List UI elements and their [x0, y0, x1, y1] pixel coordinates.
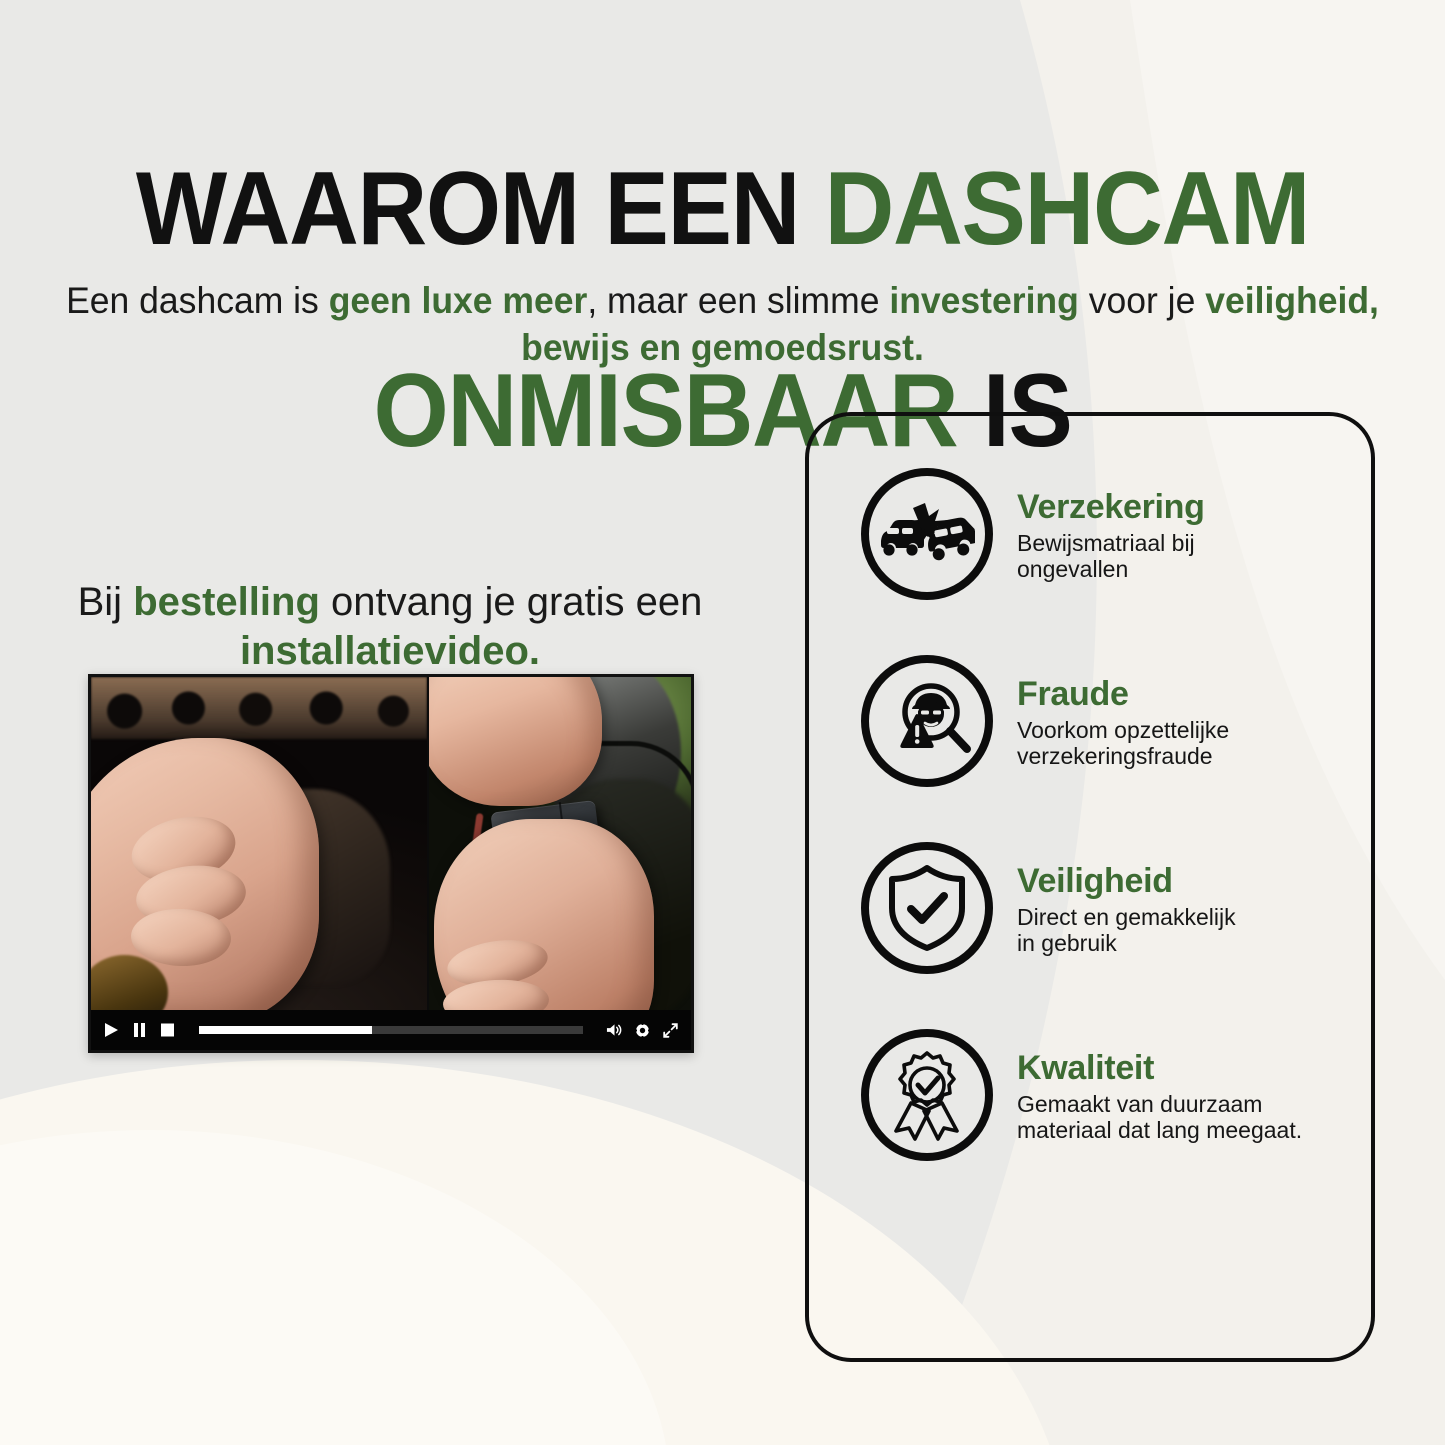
fraud-magnifier-icon: [861, 655, 993, 787]
thumb: [454, 677, 527, 680]
page-subtitle: Een dashcam is geen luxe meer, maar een …: [29, 277, 1416, 372]
hand-right-top: [427, 677, 602, 806]
play-button[interactable]: [103, 1022, 120, 1039]
progress-fill: [199, 1026, 372, 1034]
dashboard-vents: [91, 677, 427, 739]
title-line-1: WAAROM EEN DASHCAM: [136, 151, 1309, 267]
page-title: WAAROM EEN DASHCAM ONMISBAAR IS: [51, 58, 1395, 462]
feature-item-veiligheid[interactable]: Veiligheid Direct en gemakkelijk in gebr…: [861, 842, 1236, 974]
award-ribbon-icon: [861, 1029, 993, 1161]
video-pane-right: [427, 677, 691, 1016]
feature-text: Kwaliteit Gemaakt van duurzaam materiaal…: [1017, 1029, 1302, 1143]
shield-check-icon: [861, 842, 993, 974]
feature-text: Verzekering Bewijsmatriaal bij ongevalle…: [1017, 468, 1205, 582]
fullscreen-button[interactable]: [662, 1022, 679, 1039]
feature-item-verzekering[interactable]: Verzekering Bewijsmatriaal bij ongevalle…: [861, 468, 1205, 600]
volume-button[interactable]: [606, 1022, 623, 1039]
video-caption: Bij bestelling ontvang je gratis een ins…: [60, 578, 720, 676]
video-controls-bar[interactable]: [91, 1010, 691, 1050]
feature-item-fraude[interactable]: Fraude Voorkom opzettelijke verzekerings…: [861, 655, 1229, 787]
feature-text: Veiligheid Direct en gemakkelijk in gebr…: [1017, 842, 1236, 956]
pause-button[interactable]: [131, 1022, 148, 1039]
car-crash-icon: [861, 468, 993, 600]
settings-gear-icon[interactable]: [634, 1022, 651, 1039]
stop-button[interactable]: [159, 1022, 176, 1039]
feature-item-kwaliteit[interactable]: Kwaliteit Gemaakt van duurzaam materiaal…: [861, 1029, 1302, 1161]
installation-video-player[interactable]: [88, 674, 694, 1053]
features-panel: Verzekering Bewijsmatriaal bij ongevalle…: [805, 412, 1375, 1362]
hand-right-bottom: [434, 819, 654, 1016]
feature-text: Fraude Voorkom opzettelijke verzekerings…: [1017, 655, 1229, 769]
video-thumbnail[interactable]: [91, 677, 691, 1016]
progress-bar[interactable]: [199, 1026, 583, 1034]
video-pane-left: [91, 677, 427, 1016]
